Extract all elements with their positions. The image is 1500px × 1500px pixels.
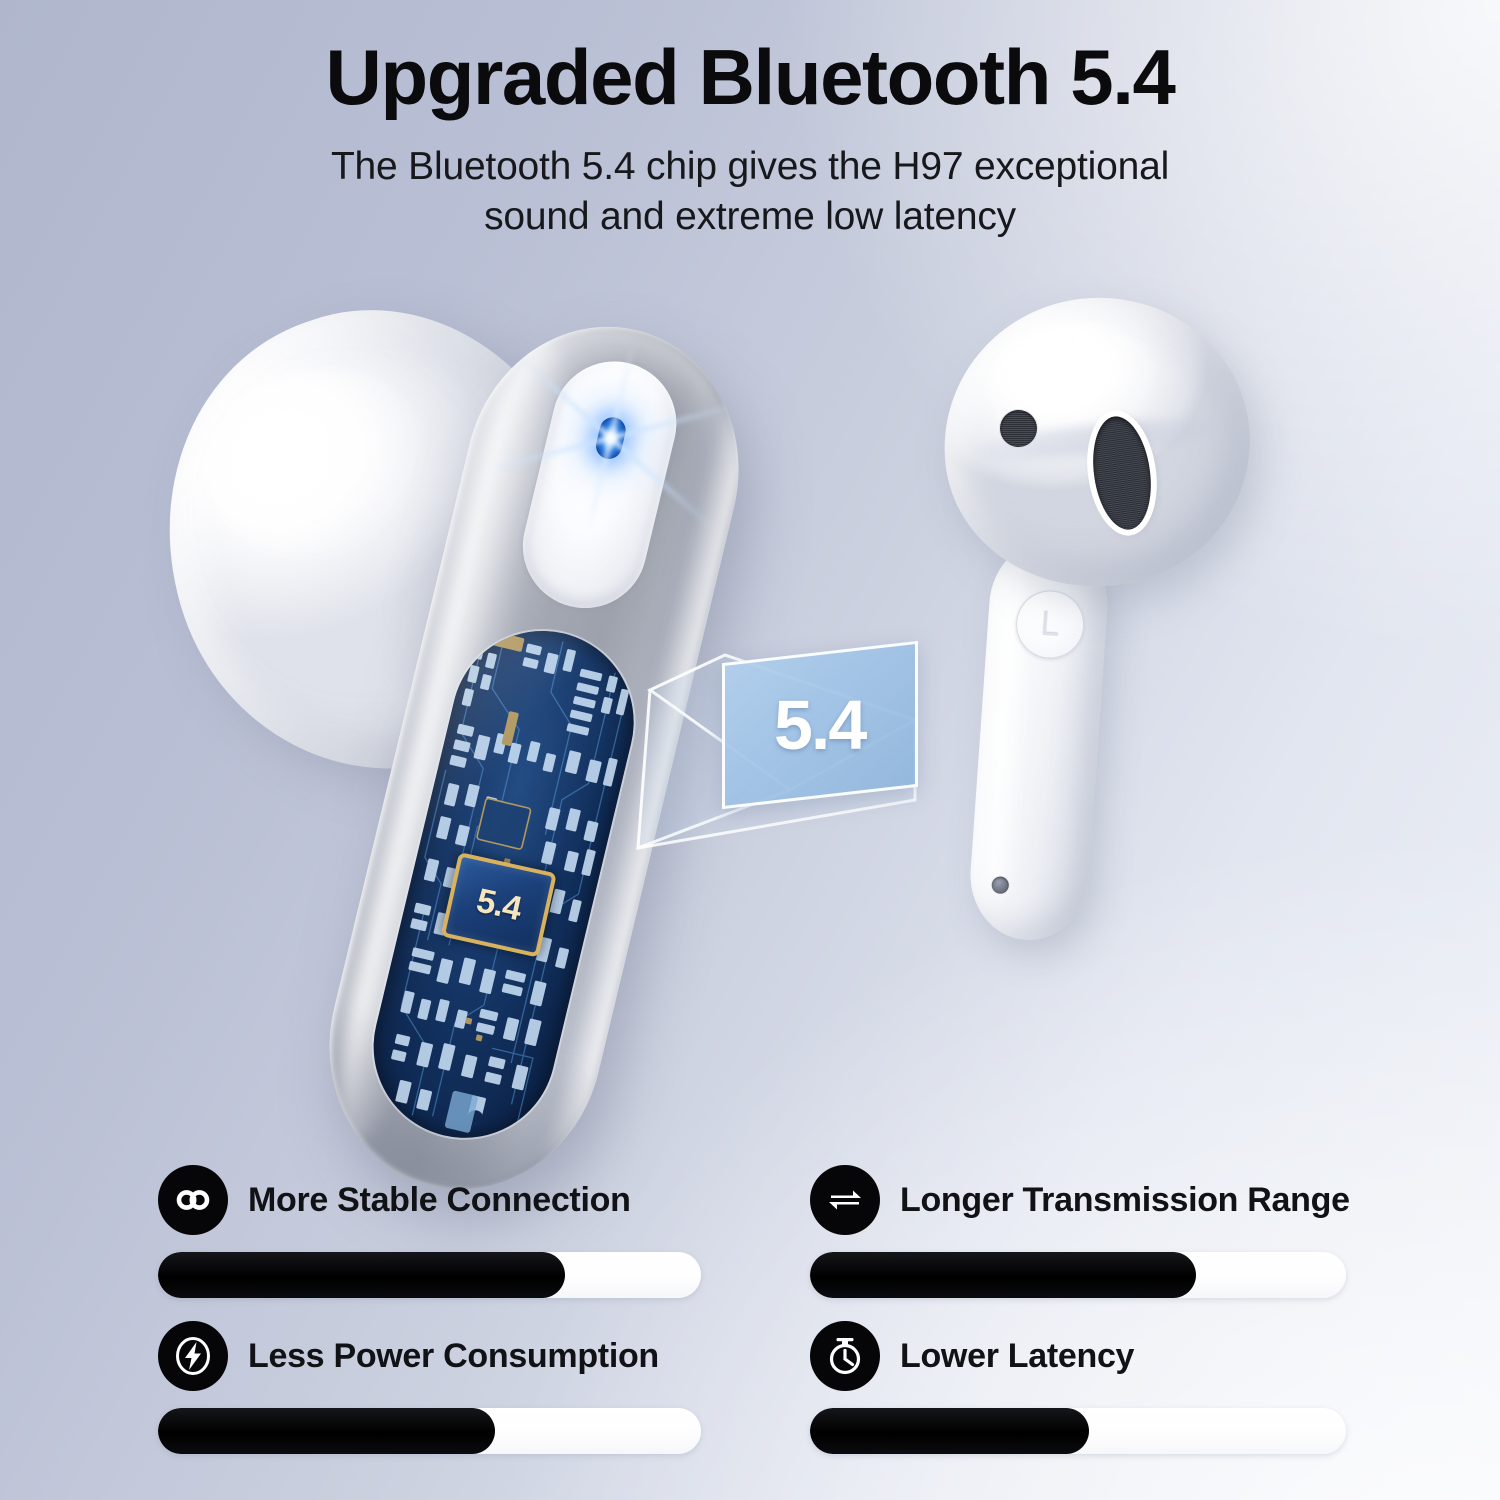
chip-version-label: 5.4 — [473, 883, 524, 926]
page-title: Upgraded Bluetooth 5.4 — [0, 38, 1500, 116]
feature-label: Less Power Consumption — [248, 1339, 659, 1373]
page-subtitle: The Bluetooth 5.4 chip gives the H97 exc… — [0, 142, 1500, 242]
bluetooth-led-icon — [593, 415, 628, 462]
header: Upgraded Bluetooth 5.4 The Bluetooth 5.4… — [0, 38, 1500, 242]
earbud-side-label: L — [1039, 607, 1060, 642]
feature-item-transmission-range: Longer Transmission Range — [810, 1162, 1348, 1298]
feature-progress-track — [810, 1408, 1346, 1454]
feature-item-latency: Lower Latency — [810, 1318, 1348, 1454]
callout-version-label: 5.4 — [774, 690, 865, 760]
feature-progress-fill — [158, 1408, 495, 1454]
feature-progress-fill — [158, 1252, 565, 1298]
exchange-arrows-icon — [810, 1165, 880, 1235]
feature-progress-track — [158, 1252, 701, 1298]
feature-item-power-consumption: Less Power Consumption — [158, 1318, 810, 1454]
lightning-bolt-icon — [158, 1321, 228, 1391]
feature-progress-track — [810, 1252, 1346, 1298]
feature-header: More Stable Connection — [158, 1162, 810, 1238]
earbud: L — [848, 288, 1368, 948]
feature-label: Lower Latency — [900, 1339, 1134, 1373]
earbud-stem: L — [966, 536, 1112, 943]
feature-label: More Stable Connection — [248, 1183, 631, 1217]
feature-progress-fill — [810, 1408, 1089, 1454]
subtitle-line-2: sound and extreme low latency — [0, 192, 1500, 242]
feature-label: Longer Transmission Range — [900, 1183, 1350, 1217]
feature-progress-fill — [810, 1252, 1196, 1298]
product-feature-banner: Upgraded Bluetooth 5.4 The Bluetooth 5.4… — [0, 0, 1500, 1500]
vent-mesh-icon — [1000, 410, 1037, 447]
feature-header: Lower Latency — [810, 1318, 1348, 1394]
feature-header: Longer Transmission Range — [810, 1162, 1348, 1238]
feature-progress-track — [158, 1408, 701, 1454]
infinity-icon — [158, 1165, 228, 1235]
subtitle-line-1: The Bluetooth 5.4 chip gives the H97 exc… — [0, 142, 1500, 192]
feature-header: Less Power Consumption — [158, 1318, 810, 1394]
feature-item-stable-connection: More Stable Connection — [158, 1162, 810, 1298]
stopwatch-icon — [810, 1321, 880, 1391]
magnified-version-callout: 5.4 — [722, 641, 918, 809]
feature-list: More Stable Connection Longer Transmissi… — [158, 1162, 1348, 1454]
